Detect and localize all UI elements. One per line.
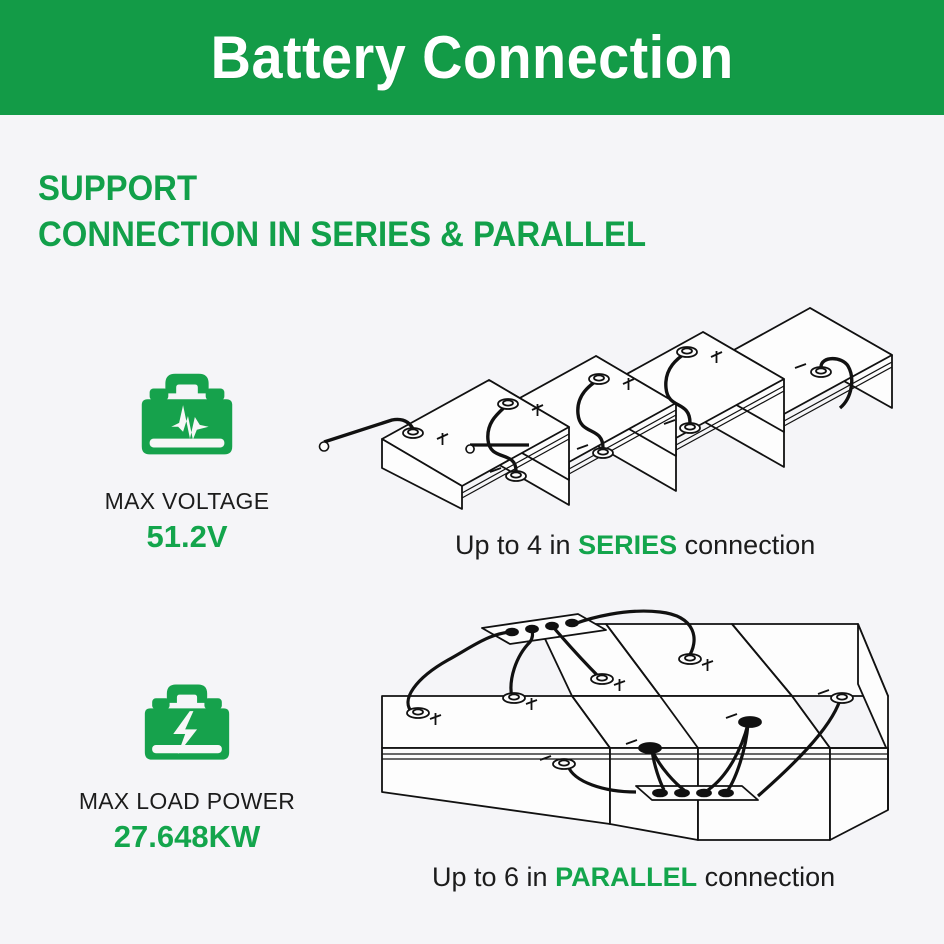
spec-value-max-load-power: 27.648KW (114, 819, 260, 855)
series-caption-suffix: connection (677, 530, 815, 560)
battery-pulse-icon (128, 356, 246, 474)
page-title: Battery Connection (210, 23, 733, 92)
parallel-caption-suffix: connection (697, 862, 835, 892)
parallel-caption-prefix: Up to 6 in (432, 862, 555, 892)
series-caption: Up to 4 in SERIES connection (455, 530, 815, 561)
support-heading-line2: CONNECTION IN SERIES & PARALLEL (38, 210, 646, 260)
battery-unit (572, 696, 830, 748)
support-heading-line1: SUPPORT (38, 168, 646, 210)
parallel-caption-highlight: PARALLEL (555, 862, 697, 892)
series-diagram-svg (318, 300, 898, 510)
spec-label-max-voltage: MAX VOLTAGE (105, 488, 270, 515)
series-caption-highlight: SERIES (578, 530, 677, 560)
series-battery-diagram (318, 300, 898, 510)
spec-max-voltage: MAX VOLTAGE 51.2V (42, 356, 332, 555)
parallel-battery-diagram (360, 596, 920, 846)
spec-value-max-voltage: 51.2V (146, 519, 227, 555)
busbar-negative (636, 786, 758, 800)
page-header: Battery Connection (0, 0, 944, 115)
series-caption-prefix: Up to 4 in (455, 530, 578, 560)
spec-label-max-load-power: MAX LOAD POWER (79, 788, 295, 815)
battery-bolt-icon (132, 668, 242, 778)
parallel-diagram-svg (360, 596, 920, 846)
spec-max-load-power: MAX LOAD POWER 27.648KW (42, 668, 332, 855)
support-heading: SUPPORT CONNECTION IN SERIES & PARALLEL (38, 168, 685, 260)
parallel-caption: Up to 6 in PARALLEL connection (432, 862, 835, 893)
